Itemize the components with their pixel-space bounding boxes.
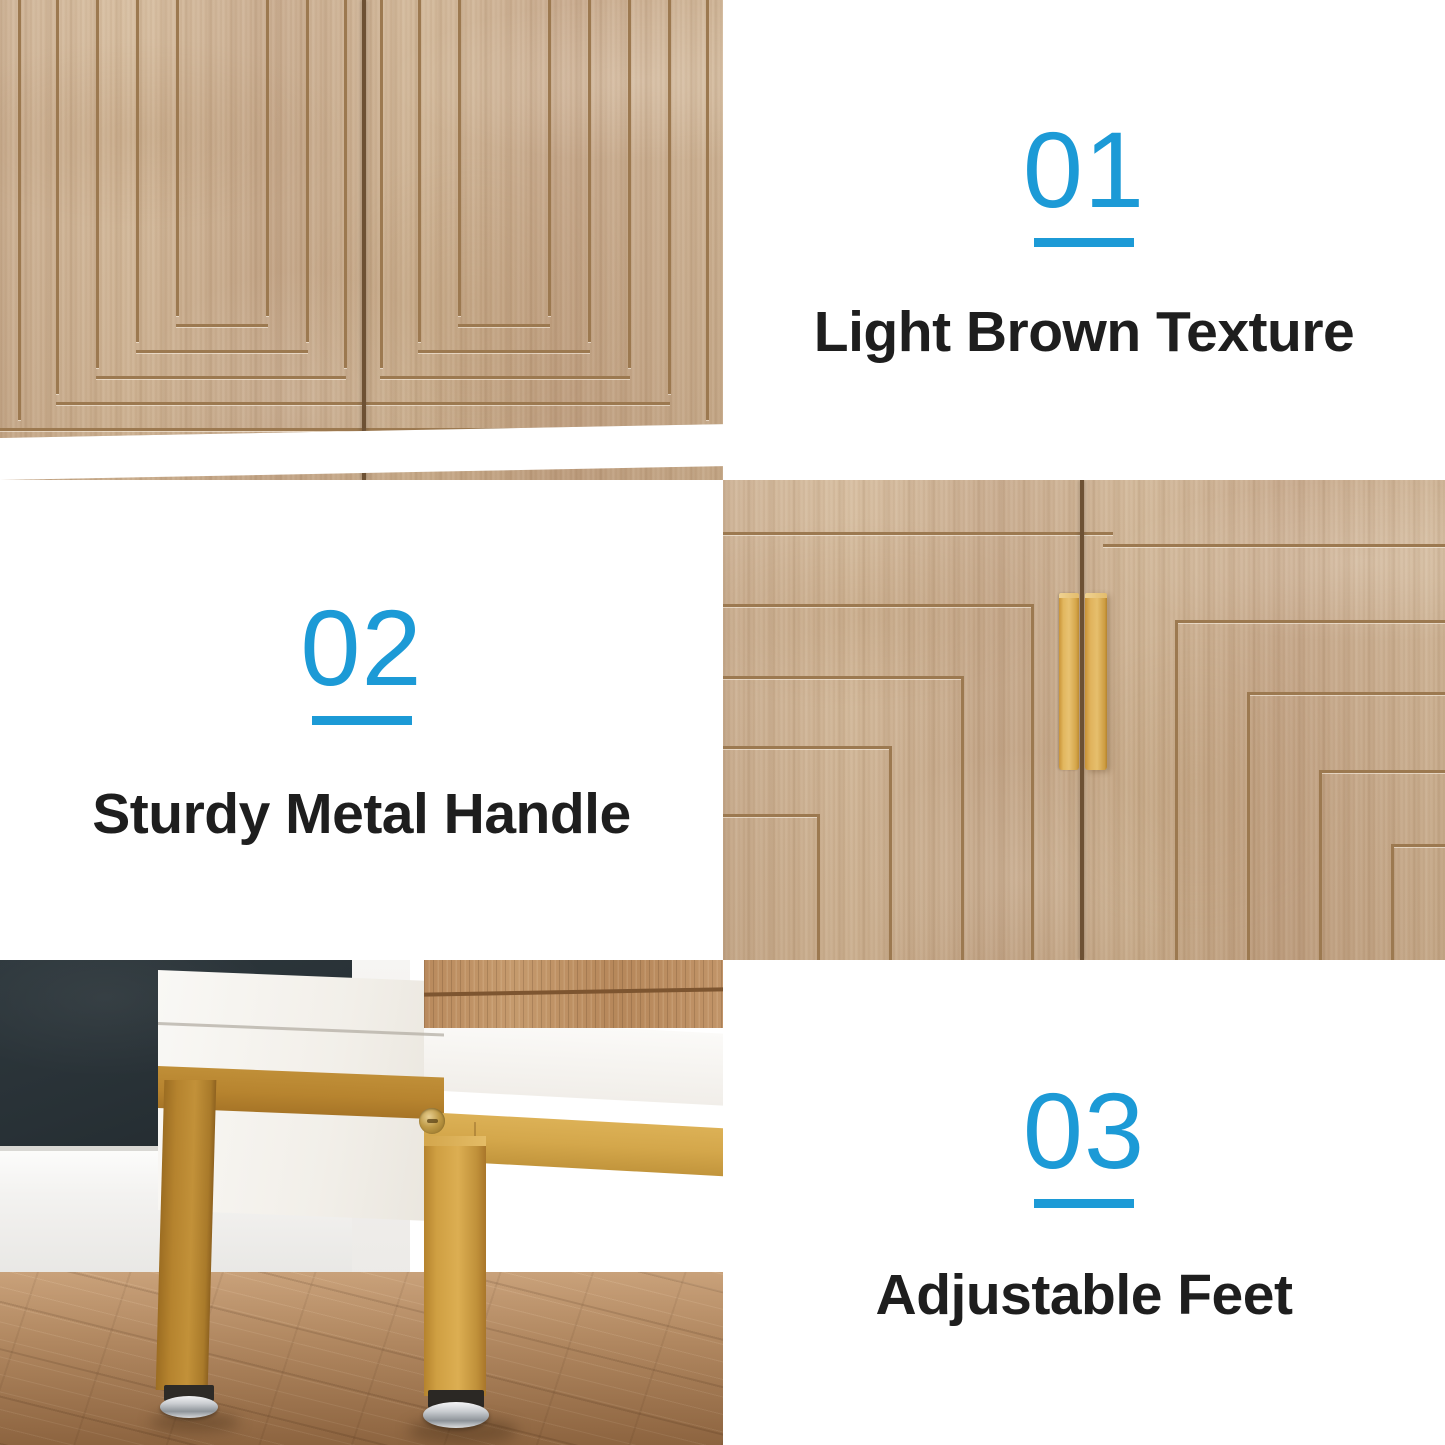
wood-grain-coarse <box>723 480 1445 960</box>
gold-leg-front-top <box>424 1136 486 1146</box>
feature-number-underline-01 <box>1034 238 1134 247</box>
floor-shading <box>0 1272 723 1445</box>
feature-caption-02: Sturdy Metal Handle <box>92 781 630 847</box>
feature-number-03: 03 <box>1023 1077 1145 1185</box>
metal-handle-left <box>1059 593 1079 770</box>
door-seam <box>362 0 366 480</box>
gold-leg-front <box>424 1136 486 1396</box>
feature-image-adjustable-feet <box>0 960 723 1445</box>
cabinet-door-left <box>0 0 362 480</box>
feature-image-sturdy-metal-handle <box>723 480 1445 960</box>
gold-leg-back <box>156 1080 217 1390</box>
feature-number-02: 02 <box>300 594 422 702</box>
door-seam <box>1080 480 1084 960</box>
feature-text-01: 01 Light Brown Texture <box>723 0 1445 480</box>
feature-number-01: 01 <box>1023 116 1145 224</box>
feature-caption-03: Adjustable Feet <box>876 1262 1293 1328</box>
feature-number-underline-02 <box>312 716 412 725</box>
feature-infographic: 01 Light Brown Texture 02 Sturdy Metal H… <box>0 0 1445 1445</box>
feature-number-underline-03 <box>1034 1199 1134 1208</box>
feature-text-02: 02 Sturdy Metal Handle <box>0 480 723 960</box>
rail-screw-slot <box>427 1119 438 1123</box>
feature-image-light-brown-texture <box>0 0 723 480</box>
cabinet-side-white <box>424 1018 723 1106</box>
adjustable-foot-front <box>423 1402 489 1428</box>
cabinet-door-right <box>366 0 723 480</box>
feature-caption-01: Light Brown Texture <box>814 299 1354 365</box>
metal-handle-right <box>1085 593 1107 770</box>
cabinet-wood-door <box>424 960 723 1028</box>
adjustable-foot-back <box>160 1396 218 1418</box>
feature-text-03: 03 Adjustable Feet <box>723 960 1445 1445</box>
